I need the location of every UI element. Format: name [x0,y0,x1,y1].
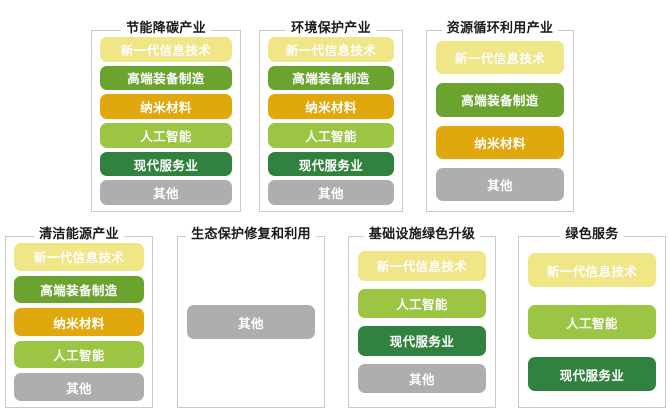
industry-tag-label: 新一代信息技术 [455,48,545,67]
industry-tag[interactable]: 纳米材料 [100,94,232,119]
industry-tag[interactable]: 新一代信息技术 [100,37,232,62]
panel-green-services[interactable]: 绿色服务 新一代信息技术人工智能现代服务业 [518,236,666,408]
industry-tag-label: 人工智能 [396,294,448,313]
panel-item-list: 新一代信息技术人工智能现代服务业其他 [349,237,495,407]
industry-tag-label: 高端装备制造 [461,90,538,109]
diagram-canvas: 节能降碳产业 新一代信息技术高端装备制造纳米材料人工智能现代服务业其他 环境保护… [0,0,669,413]
industry-tag[interactable]: 人工智能 [358,289,486,319]
industry-tag[interactable]: 其他 [14,373,144,401]
industry-tag-label: 人工智能 [53,345,105,364]
panel-item-list: 新一代信息技术高端装备制造纳米材料其他 [427,31,573,211]
industry-tag-label: 高端装备制造 [40,280,117,299]
industry-tag-label: 其他 [153,183,179,202]
industry-tag[interactable]: 新一代信息技术 [268,37,394,62]
industry-tag-label: 新一代信息技术 [377,256,467,275]
industry-tag[interactable]: 其他 [100,180,232,205]
industry-tag-label: 人工智能 [305,126,357,145]
industry-tag[interactable]: 现代服务业 [100,152,232,177]
industry-tag[interactable]: 现代服务业 [358,326,486,356]
industry-tag-label: 高端装备制造 [127,68,204,87]
industry-tag[interactable]: 人工智能 [14,341,144,369]
panel-item-list: 新一代信息技术高端装备制造纳米材料人工智能其他 [6,237,152,407]
industry-tag[interactable]: 人工智能 [268,123,394,148]
industry-tag-label: 现代服务业 [299,155,364,174]
industry-tag[interactable]: 高端装备制造 [268,66,394,91]
panel-energy-saving-carbon-reduction[interactable]: 节能降碳产业 新一代信息技术高端装备制造纳米材料人工智能现代服务业其他 [91,30,241,212]
industry-tag[interactable]: 其他 [358,364,486,394]
industry-tag-label: 纳米材料 [140,97,192,116]
panel-resource-recycling[interactable]: 资源循环利用产业 新一代信息技术高端装备制造纳米材料其他 [426,30,574,212]
industry-tag[interactable]: 人工智能 [100,123,232,148]
panel-environmental-protection[interactable]: 环境保护产业 新一代信息技术高端装备制造纳米材料人工智能现代服务业其他 [259,30,403,212]
industry-tag-label: 人工智能 [566,313,618,332]
industry-tag[interactable]: 新一代信息技术 [436,41,564,74]
industry-tag-label: 纳米材料 [305,97,357,116]
industry-tag[interactable]: 纳米材料 [268,94,394,119]
industry-tag-label: 新一代信息技术 [34,247,124,266]
industry-tag-label: 新一代信息技术 [121,40,211,59]
panel-infrastructure-green-upgrade[interactable]: 基础设施绿色升级 新一代信息技术人工智能现代服务业其他 [348,236,496,408]
industry-tag[interactable]: 其他 [436,168,564,201]
industry-tag[interactable]: 人工智能 [528,305,656,339]
industry-tag-label: 其他 [487,175,513,194]
industry-tag[interactable]: 纳米材料 [14,308,144,336]
industry-tag[interactable]: 纳米材料 [436,126,564,159]
industry-tag[interactable]: 其他 [187,305,315,339]
industry-tag[interactable]: 高端装备制造 [436,83,564,116]
panel-clean-energy[interactable]: 清洁能源产业 新一代信息技术高端装备制造纳米材料人工智能其他 [5,236,153,408]
industry-tag-label: 新一代信息技术 [286,40,376,59]
industry-tag-label: 高端装备制造 [292,68,369,87]
industry-tag-label: 人工智能 [140,126,192,145]
industry-tag-label: 其他 [238,313,264,332]
industry-tag[interactable]: 新一代信息技术 [358,251,486,281]
industry-tag[interactable]: 新一代信息技术 [14,243,144,271]
industry-tag[interactable]: 高端装备制造 [100,66,232,91]
panel-item-list: 新一代信息技术高端装备制造纳米材料人工智能现代服务业其他 [260,31,402,211]
industry-tag-label: 纳米材料 [474,133,526,152]
industry-tag[interactable]: 新一代信息技术 [528,253,656,287]
industry-tag[interactable]: 高端装备制造 [14,276,144,304]
panel-item-list: 新一代信息技术人工智能现代服务业 [519,237,665,407]
industry-tag-label: 现代服务业 [390,331,455,350]
industry-tag-label: 其他 [66,378,92,397]
industry-tag-label: 其他 [318,183,344,202]
industry-tag-label: 现代服务业 [134,155,199,174]
industry-tag[interactable]: 其他 [268,180,394,205]
industry-tag[interactable]: 现代服务业 [528,357,656,391]
industry-tag-label: 纳米材料 [53,313,105,332]
panel-ecological-restoration[interactable]: 生态保护修复和利用 其他 [177,236,325,408]
industry-tag-label: 现代服务业 [560,365,625,384]
panel-item-list: 其他 [178,237,324,407]
industry-tag[interactable]: 现代服务业 [268,152,394,177]
panel-item-list: 新一代信息技术高端装备制造纳米材料人工智能现代服务业其他 [92,31,240,211]
industry-tag-label: 新一代信息技术 [547,261,637,280]
industry-tag-label: 其他 [409,369,435,388]
